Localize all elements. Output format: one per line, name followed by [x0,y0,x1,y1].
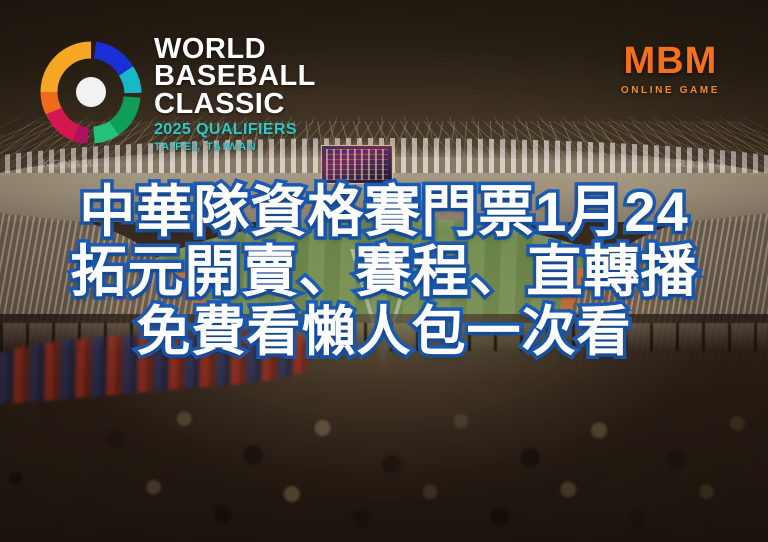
wbc-word-baseball: BASEBALL [154,63,316,90]
mbm-logo: MBM ONLINE GAME [621,42,720,96]
wbc-word-world: WORLD [154,36,316,63]
wbc-qualifiers-label: 2025 QUALIFIERS [154,121,316,139]
wbc-wordmark: WORLD BASEBALL CLASSIC 2025 QUALIFIERS T… [154,32,316,153]
headline-line-3: 免費看懶人包一次看 [0,303,768,361]
wbc-pinwheel-icon [40,41,142,143]
headline-line-2: 拓元開賣、賽程、直轉播 [0,242,768,302]
headline-line-1: 中華隊資格賽門票1月24 [0,182,768,242]
wbc-word-classic: CLASSIC [154,91,316,118]
mbm-subtitle: ONLINE GAME [621,85,720,96]
promo-banner: KONAMI RAXUS [0,0,768,542]
headline-block: 中華隊資格賽門票1月24 拓元開賣、賽程、直轉播 免費看懶人包一次看 [0,182,768,361]
wbc-location-label: TAIPEI, TAIWAN [154,141,316,153]
mbm-wordmark: MBM [621,42,720,80]
wbc-logo: WORLD BASEBALL CLASSIC 2025 QUALIFIERS T… [40,32,316,153]
